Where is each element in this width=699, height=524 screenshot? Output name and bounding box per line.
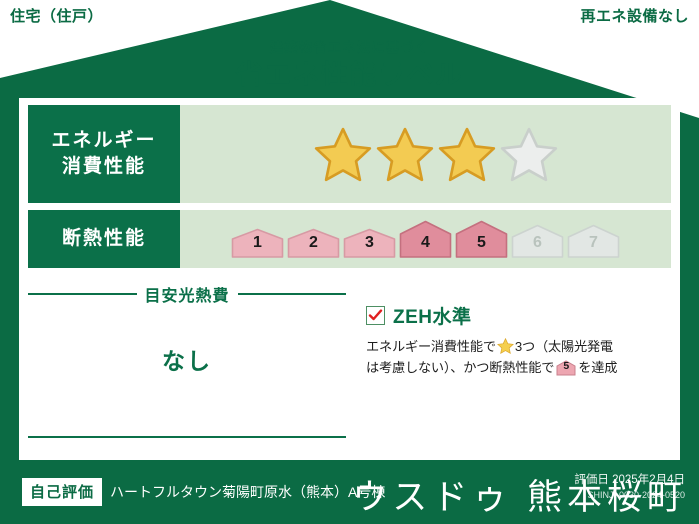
utility-cost-header: 目安光熱費 [28,276,346,306]
lower-section: 目安光熱費 なし ZEH水準 エネルギー消費性能で3つ（太陽光発電は考慮しな [28,276,671,452]
label-card: エネルギー 消費性能 断熱性能 1234567 目安光熱費 なし [19,98,680,460]
evaluation-info: 評価日 2025年2月4日 SHINJI-0030-2024-0520 [574,472,685,502]
label-subtitle: 建築物省エネ法に基づく [0,40,699,56]
checkbox-icon[interactable] [366,306,385,325]
house-icon-inline: 5 [556,360,576,376]
insulation-level-number: 2 [287,234,340,252]
insulation-level-house: 1 [231,228,284,258]
energy-label-line1: エネルギー [51,128,156,154]
zeh-block: ZEH水準 エネルギー消費性能で3つ（太陽光発電は考慮しない）、かつ断熱性能で5… [346,276,671,452]
zeh-desc-part2: 3つ（太陽光発電 [515,339,613,354]
insulation-level-number: 1 [231,234,284,252]
insulation-level-number: 5 [455,234,508,252]
label-title: 省エネ性能ラベル [0,59,699,93]
building-type-badge: 住宅（住戸） [0,0,113,32]
insulation-level-number: 3 [343,234,396,252]
house-scale: 1234567 [231,220,620,258]
insulation-level-house: 7 [567,224,620,258]
star-icon-filled [314,126,372,182]
zeh-header: ZEH水準 [366,302,665,329]
energy-star-rating [180,105,671,203]
utility-cost-bottom-rule [28,436,346,438]
utility-cost-title: 目安光熱費 [145,282,230,306]
star-icon-filled [438,126,496,182]
evaluation-serial: SHINJI-0030-2024-0520 [574,489,685,502]
insulation-level-number: 4 [399,234,452,252]
zeh-desc-part1: エネルギー消費性能で [366,339,496,354]
rule-left [28,293,137,295]
property-name: ハートフルタウン菊陽町原水（熊本）A号棟 [110,482,385,502]
energy-label-line2: 消費性能 [62,154,146,180]
label-title-block: 建築物省エネ法に基づく 省エネ性能ラベル [0,40,699,93]
insulation-level-house: 3 [343,228,396,258]
renewable-energy-badge: 再エネ設備なし [570,0,699,32]
insulation-level-house: 5 [455,220,508,258]
zeh-title: ZEH水準 [393,302,472,329]
rule-right [238,293,347,295]
star-icon-filled [376,126,434,182]
insulation-level-house: 6 [511,224,564,258]
utility-cost-value: なし [28,342,346,376]
energy-label-root: 住宅（住戸） 再エネ設備なし 建築物省エネ法に基づく 省エネ性能ラベル エネルギ… [0,0,699,524]
label-footer: 自己評価 ハートフルタウン菊陽町原水（熊本）A号棟 評価日 2025年2月4日 … [0,460,699,524]
energy-performance-row: エネルギー 消費性能 [28,105,671,203]
insulation-level-house: 2 [287,228,340,258]
insulation-level-scale: 1234567 [180,210,671,268]
insulation-level-number: 6 [511,234,564,252]
evaluation-date: 評価日 2025年2月4日 [574,472,685,489]
insulation-level-number: 7 [567,234,620,252]
zeh-description: エネルギー消費性能で3つ（太陽光発電は考慮しない）、かつ断熱性能で5を達成 [366,336,665,379]
house-icon-number: 5 [556,360,576,376]
zeh-desc-part3: は考慮しない）、かつ断熱性能で [366,360,554,375]
utility-cost-block: 目安光熱費 なし [28,276,346,452]
insulation-level-house: 4 [399,220,452,258]
insulation-performance-row: 断熱性能 1234567 [28,210,671,268]
self-evaluation-badge: 自己評価 [22,478,102,506]
star-icon-empty [500,126,558,182]
energy-performance-label: エネルギー 消費性能 [28,105,180,203]
insulation-performance-label: 断熱性能 [28,210,180,268]
star-icon-inline [497,338,514,354]
zeh-desc-part4: を達成 [578,360,617,375]
